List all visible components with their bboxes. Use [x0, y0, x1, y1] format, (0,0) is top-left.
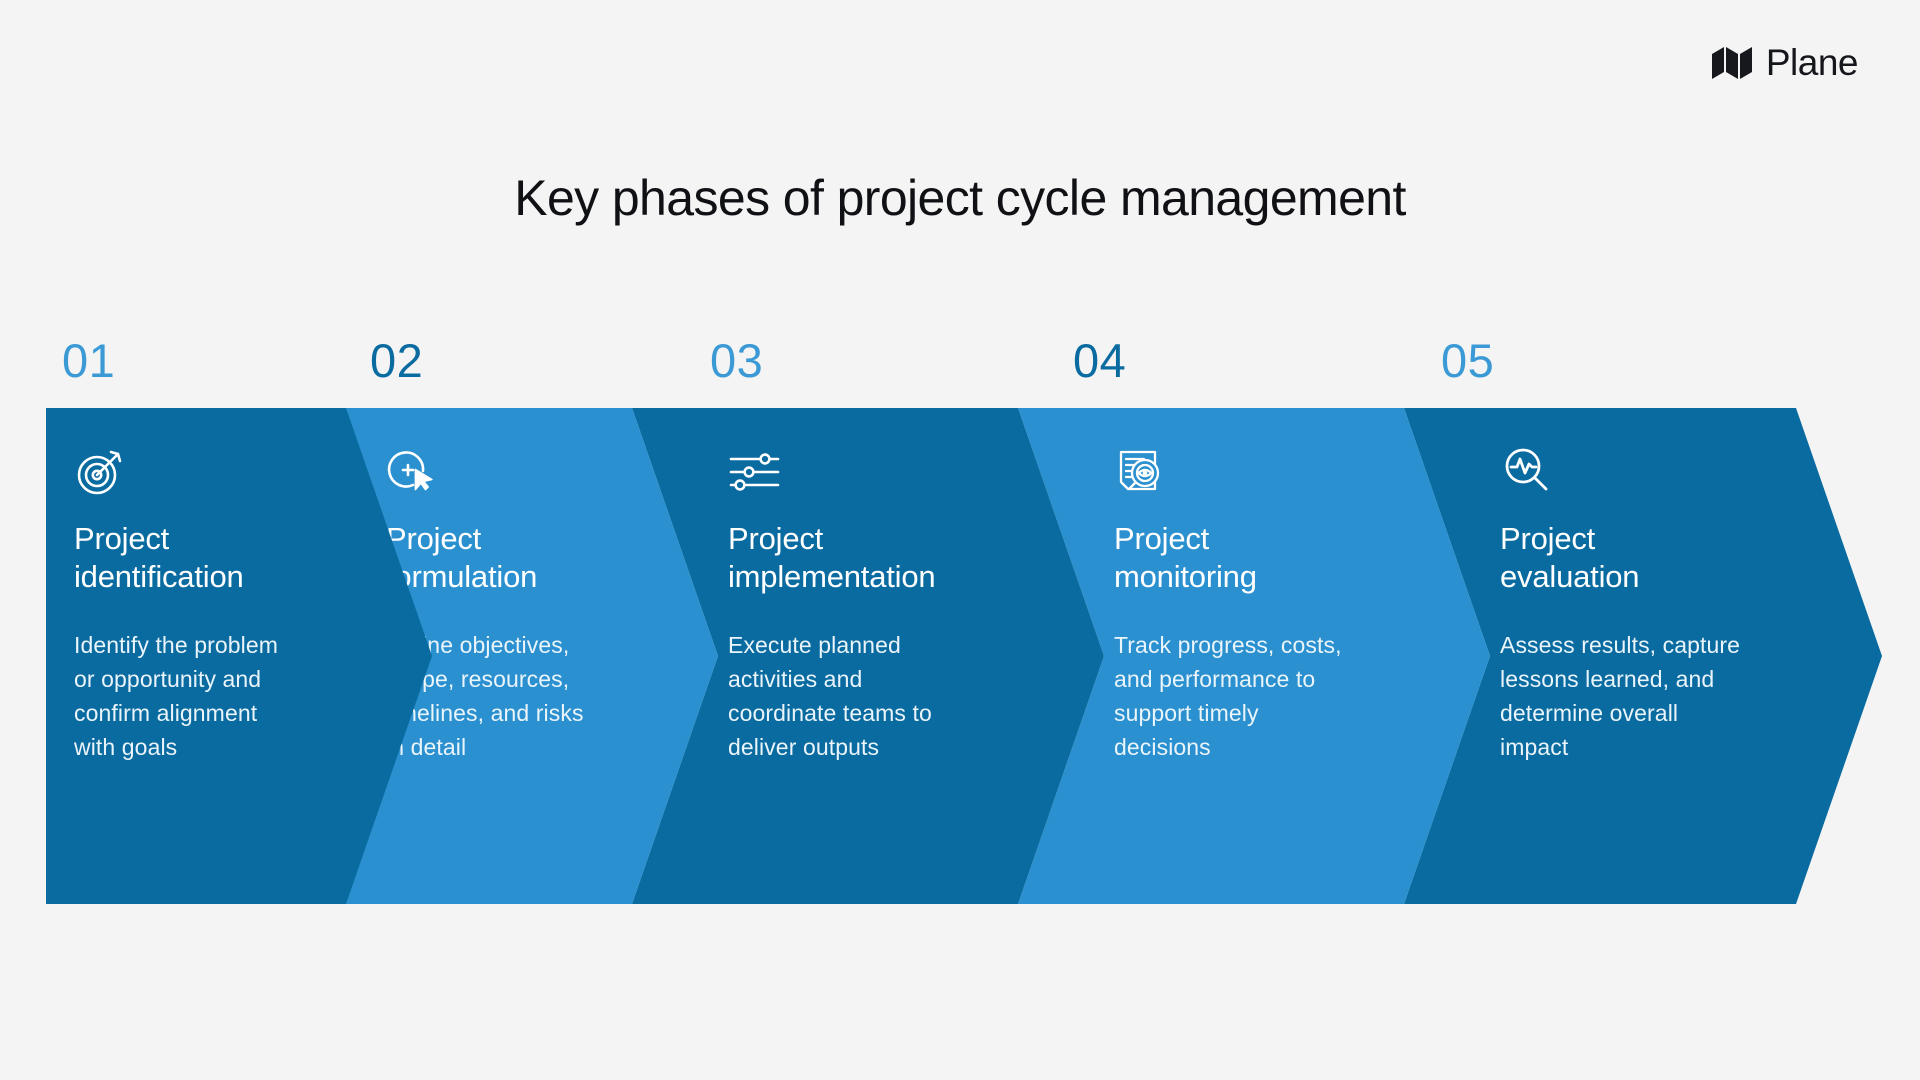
brand-name: Plane	[1766, 44, 1858, 81]
document-magnifier-eye-icon	[1114, 444, 1168, 498]
step-title-3: Project implementation	[728, 520, 1104, 596]
step-title-2: Project formulation	[386, 520, 718, 596]
step-number-05: 05	[1441, 337, 1494, 384]
process-chevron-band: Project identification Identify the prob…	[46, 408, 1882, 904]
plane-logo-icon	[1710, 45, 1754, 81]
magnifier-pulse-icon	[1500, 444, 1554, 498]
step-description-2: Define objectives, scope, resources, tim…	[386, 628, 718, 764]
page-title: Key phases of project cycle management	[0, 168, 1920, 228]
step-description-5: Assess results, capture lessons learned,…	[1500, 628, 1882, 764]
step-number-02: 02	[370, 337, 423, 384]
step-title-1: Project identification	[74, 520, 432, 596]
target-arrow-icon	[74, 444, 128, 498]
brand-logo: Plane	[1710, 44, 1858, 81]
sliders-settings-icon	[728, 444, 782, 498]
step-description-3: Execute planned activities and coordinat…	[728, 628, 1104, 764]
step-number-03: 03	[710, 337, 763, 384]
step-title-4: Project monitoring	[1114, 520, 1490, 596]
step-title-5: Project evaluation	[1500, 520, 1882, 596]
step-description-1: Identify the problem or opportunity and …	[74, 628, 432, 764]
step-number-04: 04	[1073, 337, 1126, 384]
step-numbers-row: 01 02 03 04 05	[0, 337, 1920, 407]
plus-circle-cursor-icon	[386, 444, 440, 498]
step-number-01: 01	[62, 337, 115, 384]
step-description-4: Track progress, costs, and performance t…	[1114, 628, 1490, 764]
